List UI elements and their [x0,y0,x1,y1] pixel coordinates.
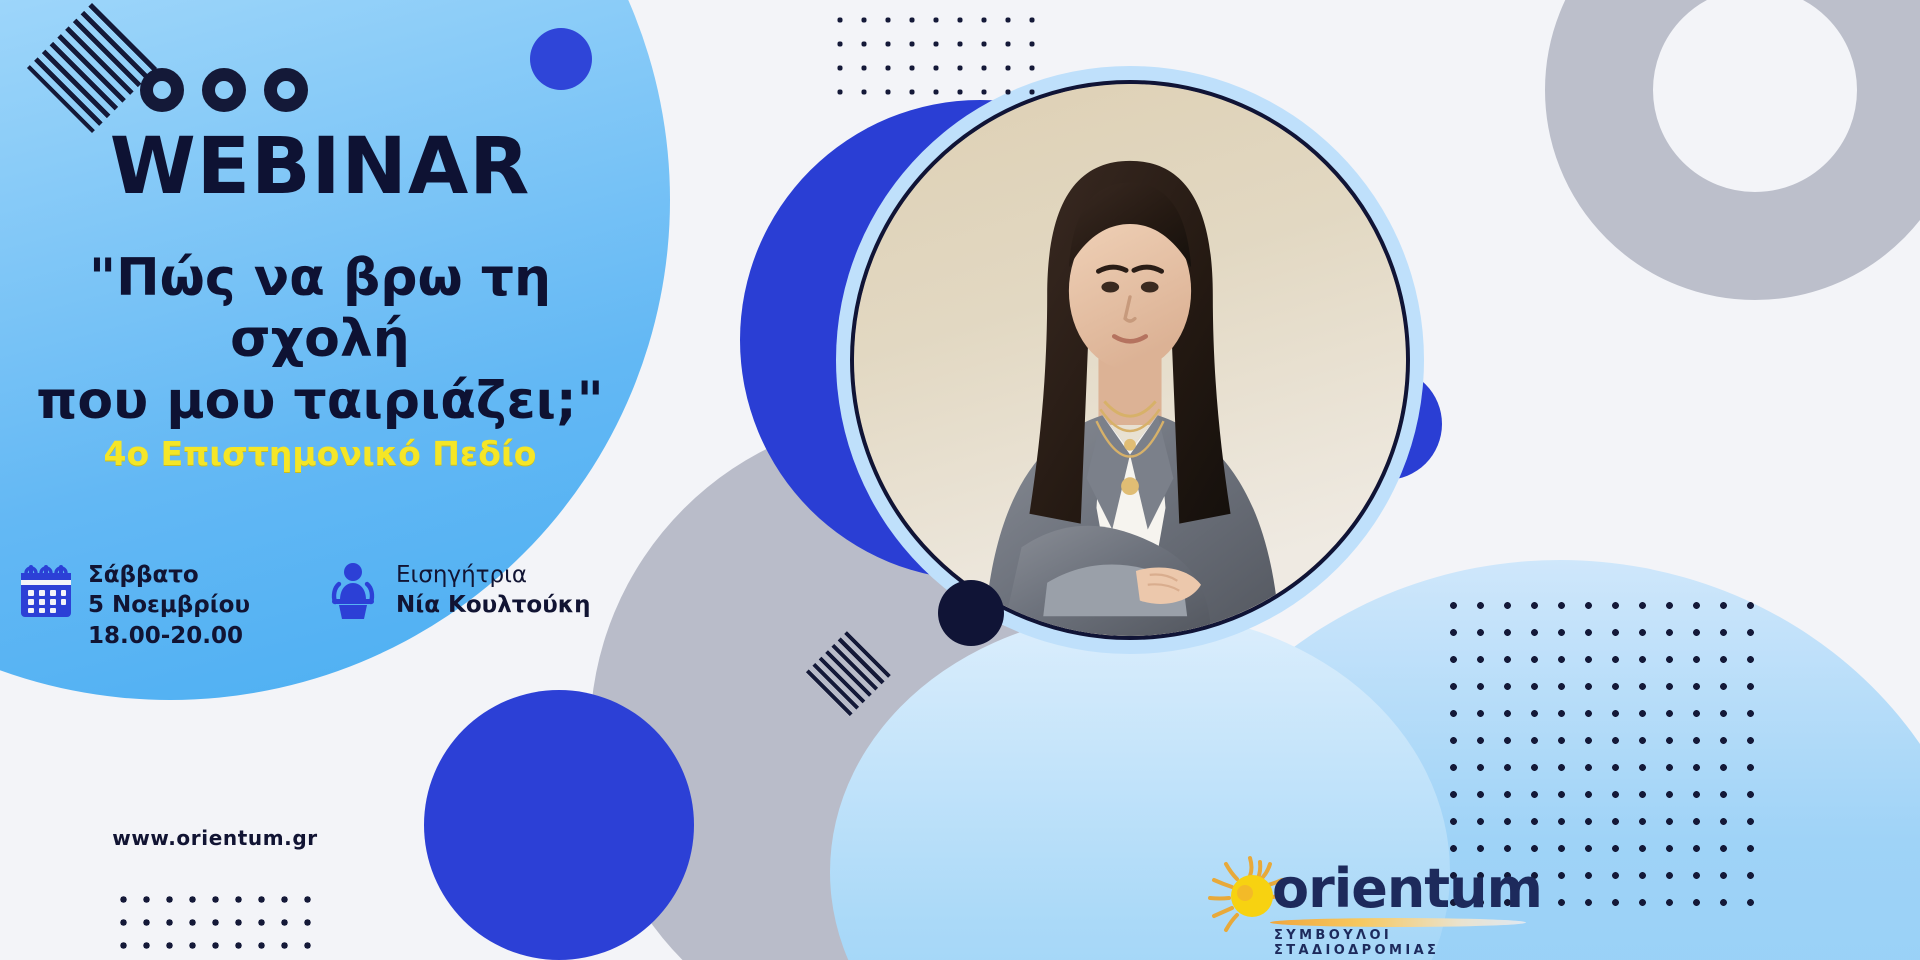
event-date: 5 Νοεμβρίου [88,592,250,618]
calendar-icon [18,564,74,620]
webinar-subtitle: 4ο Επιστημονικό Πεδίο [0,434,640,473]
banner-content: WEBINAR "Πώς να βρω τη σχολή που μου ται… [0,0,700,960]
speaker-role: Εισηγήτρια [396,562,527,588]
speaker-portrait-frame [836,66,1424,654]
logo-wordmark: orientum [1272,862,1542,916]
webinar-quote: "Πώς να βρω τη σχολή που μου ταιριάζει;" [0,248,640,432]
dot-grid-top-right [828,8,1038,104]
portrait-ring-outline [850,80,1410,640]
website-url[interactable]: www.orientum.gr [0,826,430,850]
logo-tagline: ΣΥΜΒΟΥΛΟΙ ΣΤΑΔΙΟΔΡΟΜΙΑΣ [1274,928,1530,958]
grey-donut-ring-decor [1545,0,1920,300]
logo-swoosh-decor [1270,918,1526,927]
event-date-block: Σάββατο 5 Νοεμβρίου 18.00-20.00 [18,560,250,651]
webinar-title: WEBINAR [0,128,640,206]
orientum-logo: orientum ΣΥΜΒΟΥΛΟΙ ΣΤΑΔΙΟΔΡΟΜΙΑΣ [1200,852,1530,952]
quote-line-2: που μου ταιριάζει;" [0,371,640,432]
speaker-photo [854,84,1406,636]
event-time: 18.00-20.00 [88,623,243,649]
event-date-text: Σάββατο 5 Νοεμβρίου 18.00-20.00 [88,560,250,651]
banner-canvas: WEBINAR "Πώς να βρω τη σχολή που μου ται… [0,0,1920,960]
navy-dot-decor [938,580,1004,646]
speaker-block: Εισηγήτρια Νία Κουλτούκη [324,560,590,621]
podium-speaker-icon [324,562,382,620]
quote-line-1: "Πώς να βρω τη σχολή [0,248,640,371]
event-day: Σάββατο [88,562,199,588]
event-info-row: Σάββατο 5 Νοεμβρίου 18.00-20.00 [18,560,590,651]
speaker-name: Νία Κουλτούκη [396,592,590,618]
speaker-text: Εισηγήτρια Νία Κουλτούκη [396,560,590,621]
